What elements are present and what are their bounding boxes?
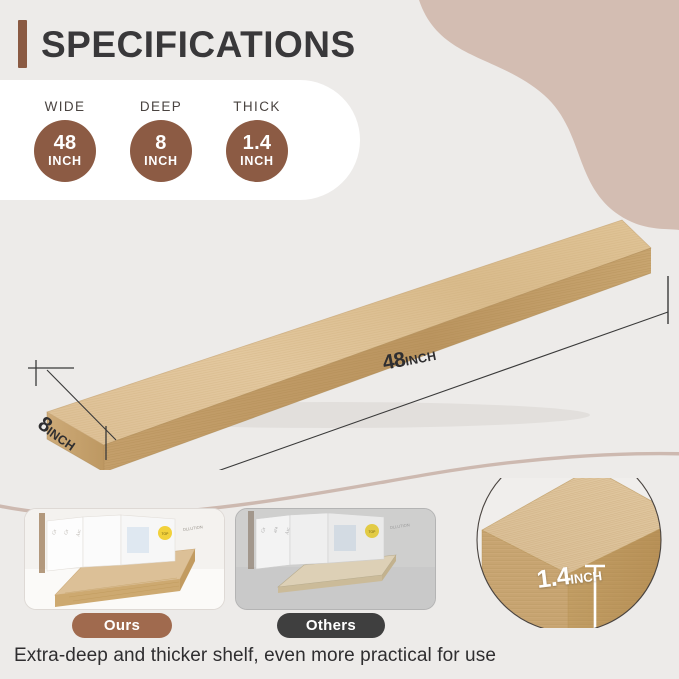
shelf-illustration	[0, 200, 679, 470]
badge-ours: Ours	[72, 613, 172, 638]
svg-text:TOP: TOP	[162, 532, 170, 536]
spec-label-wide: WIDE	[45, 99, 86, 114]
ours-photo: Gr Gr Arc TOP OLLUTION	[25, 509, 224, 609]
comparison-panel-others: Gr ara Arc TOP OLLUTION	[235, 508, 436, 610]
bottom-caption: Extra-deep and thicker shelf, even more …	[14, 645, 664, 667]
thickness-unit: INCH	[569, 568, 602, 587]
spec-unit-deep: INCH	[144, 155, 178, 168]
others-photo: Gr ara Arc TOP OLLUTION	[236, 509, 435, 609]
thickness-detail-circle	[472, 478, 666, 628]
spec-value-thick: 1.4	[243, 133, 272, 153]
thickness-value: 1.4	[535, 562, 571, 594]
page-header: SPECIFICATIONS	[18, 20, 356, 68]
spec-card: WIDE 48 INCH DEEP 8 INCH THICK 1.4 INCH	[0, 80, 360, 200]
page-title: SPECIFICATIONS	[41, 26, 356, 63]
infographic-canvas: SPECIFICATIONS WIDE 48 INCH DEEP 8 INCH …	[0, 0, 679, 679]
spec-unit-wide: INCH	[48, 155, 82, 168]
title-accent-bar	[18, 20, 27, 68]
spec-item-thick: THICK 1.4 INCH	[220, 99, 294, 182]
spec-unit-thick: INCH	[240, 155, 274, 168]
comparison-panel-ours: Gr Gr Arc TOP OLLUTION	[24, 508, 225, 610]
spec-value-wide: 48	[54, 133, 77, 153]
dimension-length-unit: INCH	[404, 349, 437, 369]
spec-label-thick: THICK	[233, 99, 281, 114]
spec-circle-thick: 1.4 INCH	[226, 120, 288, 182]
spec-label-deep: DEEP	[140, 99, 182, 114]
spec-item-deep: DEEP 8 INCH	[124, 99, 198, 182]
svg-text:TOP: TOP	[369, 530, 377, 534]
decorative-blob	[379, 0, 679, 230]
spec-circle-wide: 48 INCH	[34, 120, 96, 182]
badge-others: Others	[277, 613, 385, 638]
dimension-length-value: 48	[381, 348, 407, 375]
spec-value-deep: 8	[155, 133, 166, 153]
spec-item-wide: WIDE 48 INCH	[28, 99, 102, 182]
spec-circle-deep: 8 INCH	[130, 120, 192, 182]
